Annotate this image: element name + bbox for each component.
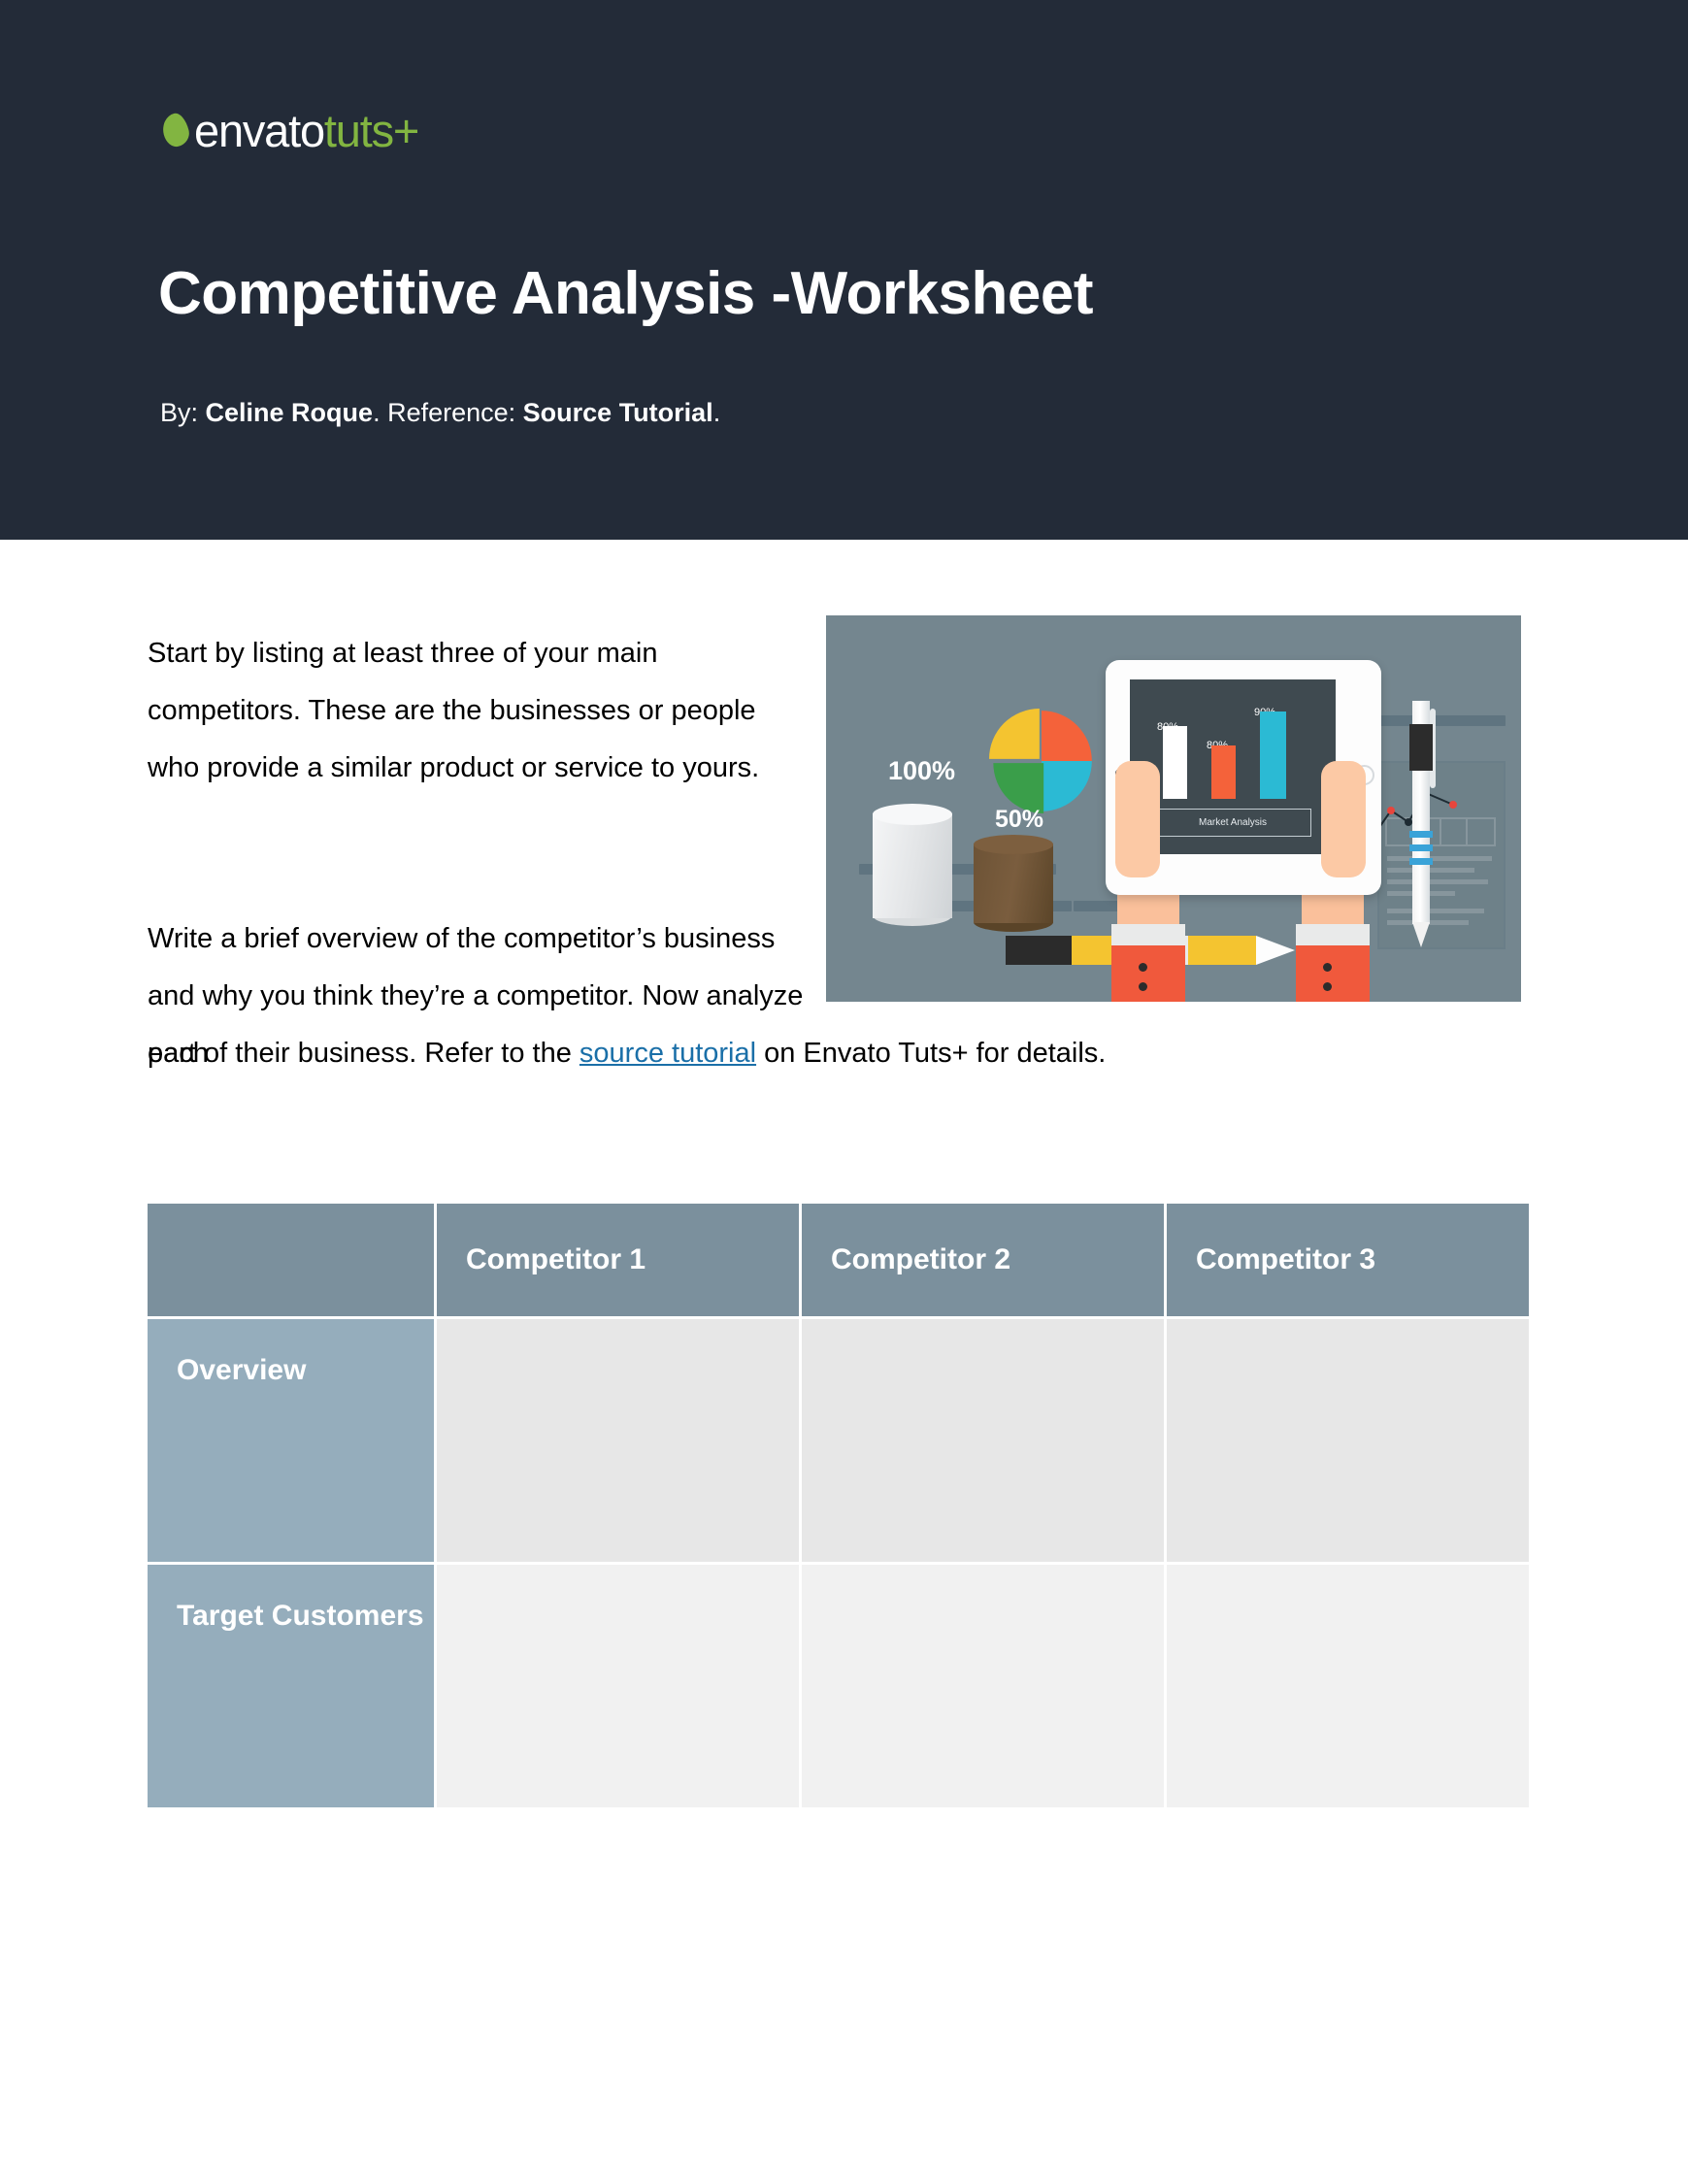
hand-right xyxy=(1321,761,1366,877)
cell-target-customers-competitor-3[interactable] xyxy=(1167,1565,1529,1807)
competitive-analysis-table: Competitor 1 Competitor 2 Competitor 3 O… xyxy=(148,1204,1522,1807)
cell-target-customers-competitor-2[interactable] xyxy=(802,1565,1164,1807)
tablet-screen: 80% 80% 90% Market Analysis xyxy=(1130,679,1336,854)
byline: By: Celine Roque. Reference: Source Tuto… xyxy=(160,398,720,428)
column-header-competitor-2: Competitor 2 xyxy=(802,1204,1164,1316)
row-header-target-customers: Target Customers xyxy=(148,1565,434,1807)
chart-bar-3 xyxy=(1260,711,1286,799)
chart-bar-1 xyxy=(1163,726,1187,799)
market-analysis-illustration: 100% 50% 80% 80% 90% xyxy=(826,615,1521,1002)
leaf-icon xyxy=(159,111,191,149)
paragraph-3-after: on Envato Tuts+ for details. xyxy=(756,1038,1106,1069)
decor-bar xyxy=(1074,901,1120,911)
sleeve-right xyxy=(1296,924,1370,945)
cylinder-label-100: 100% xyxy=(888,756,955,786)
page-title: Competitive Analysis -Worksheet xyxy=(158,259,1093,328)
byline-prefix: By: xyxy=(160,398,198,427)
market-analysis-button[interactable]: Market Analysis xyxy=(1154,809,1311,837)
hand-left xyxy=(1115,761,1160,877)
chart-bar-2 xyxy=(1211,745,1236,799)
cell-overview-competitor-1[interactable] xyxy=(437,1319,799,1562)
cell-overview-competitor-2[interactable] xyxy=(802,1319,1164,1562)
paragraph-3-before: part of their business. Refer to the xyxy=(148,1038,579,1069)
column-header-competitor-3: Competitor 3 xyxy=(1167,1204,1529,1316)
row-header-overview: Overview xyxy=(148,1319,434,1562)
cuff-right xyxy=(1296,945,1370,1002)
cylinder-label-50: 50% xyxy=(995,806,1043,834)
envato-tuts-logo[interactable]: envato tuts+ xyxy=(163,105,418,155)
cylinder-chart-icon xyxy=(873,804,952,926)
cell-overview-competitor-3[interactable] xyxy=(1167,1319,1529,1562)
decor-bar xyxy=(1430,715,1506,726)
hero-banner: envato tuts+ Competitive Analysis -Works… xyxy=(0,0,1688,540)
byline-author: Celine Roque xyxy=(206,398,374,427)
intro-paragraph-3: part of their business. Refer to the sou… xyxy=(148,1025,1526,1082)
pen-tip-icon xyxy=(1412,922,1430,947)
byline-reference: Source Tutorial xyxy=(523,398,713,427)
pie-chart-icon xyxy=(989,709,1094,813)
table-corner-cell xyxy=(148,1204,434,1316)
cylinder-chart-icon-2 xyxy=(974,835,1053,932)
byline-suffix: . xyxy=(713,398,721,427)
cell-target-customers-competitor-1[interactable] xyxy=(437,1565,799,1807)
logo-tuts-text: tuts+ xyxy=(324,108,418,153)
logo-envato-text: envato xyxy=(194,108,324,153)
sleeve-left xyxy=(1111,924,1185,945)
source-tutorial-link[interactable]: source tutorial xyxy=(579,1038,756,1069)
byline-middle: . Reference: xyxy=(373,398,515,427)
intro-paragraph-1: Start by listing at least three of your … xyxy=(148,625,808,797)
cuff-left xyxy=(1111,945,1185,1002)
pen-grip-icon xyxy=(1409,724,1433,771)
column-header-competitor-1: Competitor 1 xyxy=(437,1204,799,1316)
